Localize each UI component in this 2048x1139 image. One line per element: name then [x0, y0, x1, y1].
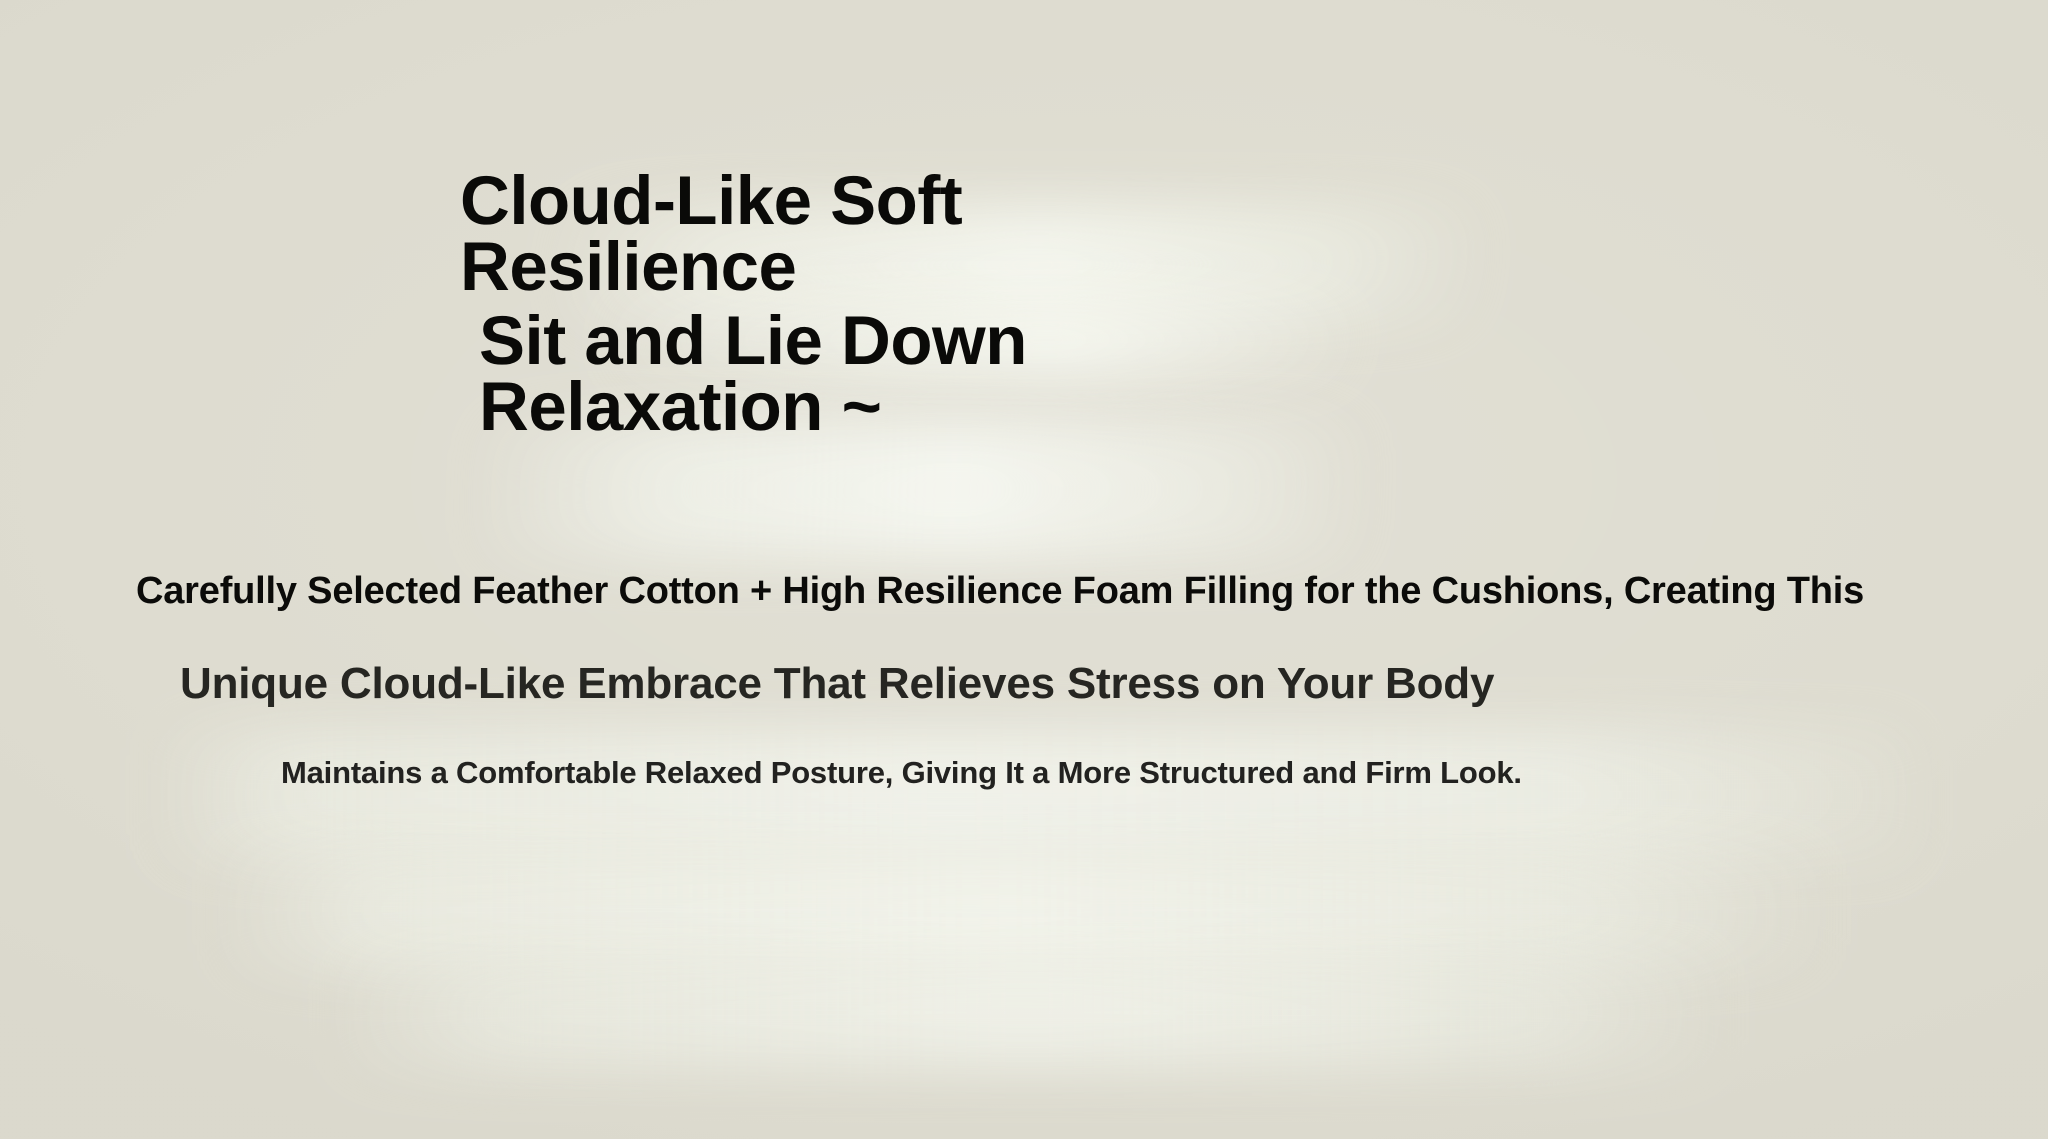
headline-sit-and-lie-down-relaxation: Sit and Lie Down Relaxation ~ — [479, 308, 1099, 439]
body-line-embrace-description: Unique Cloud-Like Embrace That Relieves … — [180, 662, 1494, 706]
product-feature-banner: Cloud-Like Soft Resilience Sit and Lie D… — [0, 0, 2048, 1139]
body-line-posture-description: Maintains a Comfortable Relaxed Posture,… — [281, 757, 1522, 788]
body-line-filling-description: Carefully Selected Feather Cotton + High… — [136, 572, 1864, 610]
banner-content: Cloud-Like Soft Resilience Sit and Lie D… — [0, 0, 2048, 1139]
headline-cloud-like-soft-resilience: Cloud-Like Soft Resilience — [460, 168, 1020, 299]
